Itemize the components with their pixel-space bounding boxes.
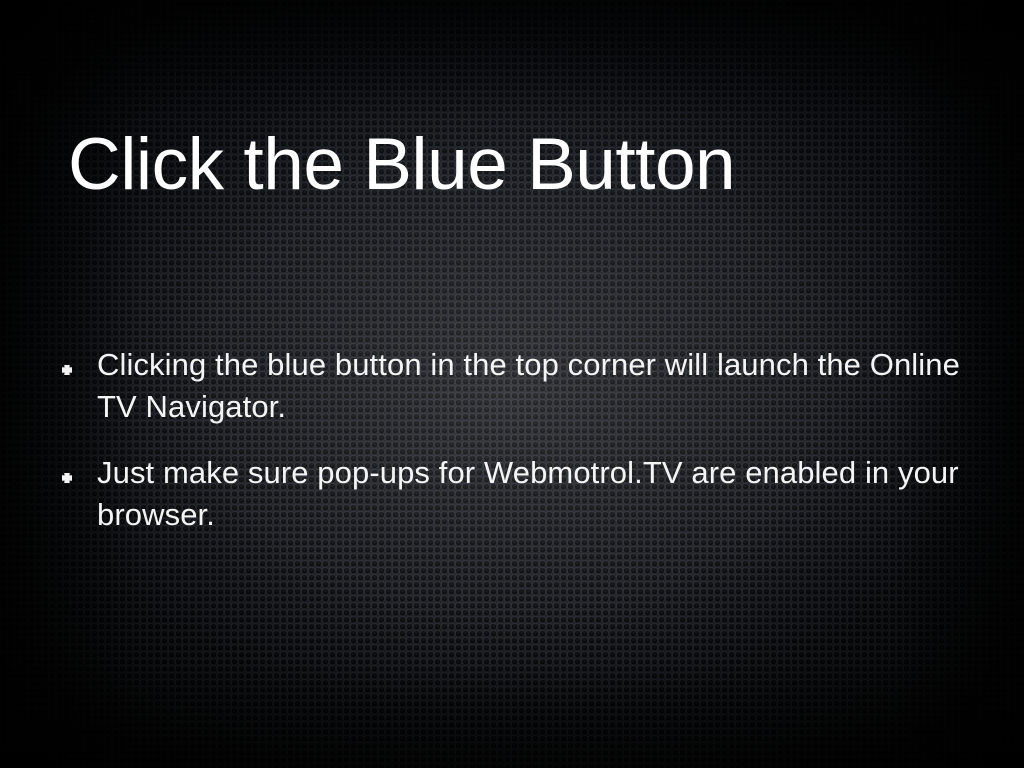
list-item: Clicking the blue button in the top corn…: [62, 344, 982, 428]
bullet-item-label: Clicking the blue button in the top corn…: [97, 344, 967, 428]
slide-content: Click the Blue Button Clicking the blue …: [0, 0, 1024, 768]
bullet-list: Clicking the blue button in the top corn…: [62, 344, 982, 560]
presentation-slide: Click the Blue Button Clicking the blue …: [0, 0, 1024, 768]
list-item: Just make sure pop-ups for Webmotrol.TV …: [62, 452, 982, 536]
square-bullet-icon: [62, 473, 72, 483]
square-bullet-icon: [62, 365, 72, 375]
bullet-item-label: Just make sure pop-ups for Webmotrol.TV …: [97, 452, 967, 536]
page-title: Click the Blue Button: [68, 127, 968, 204]
